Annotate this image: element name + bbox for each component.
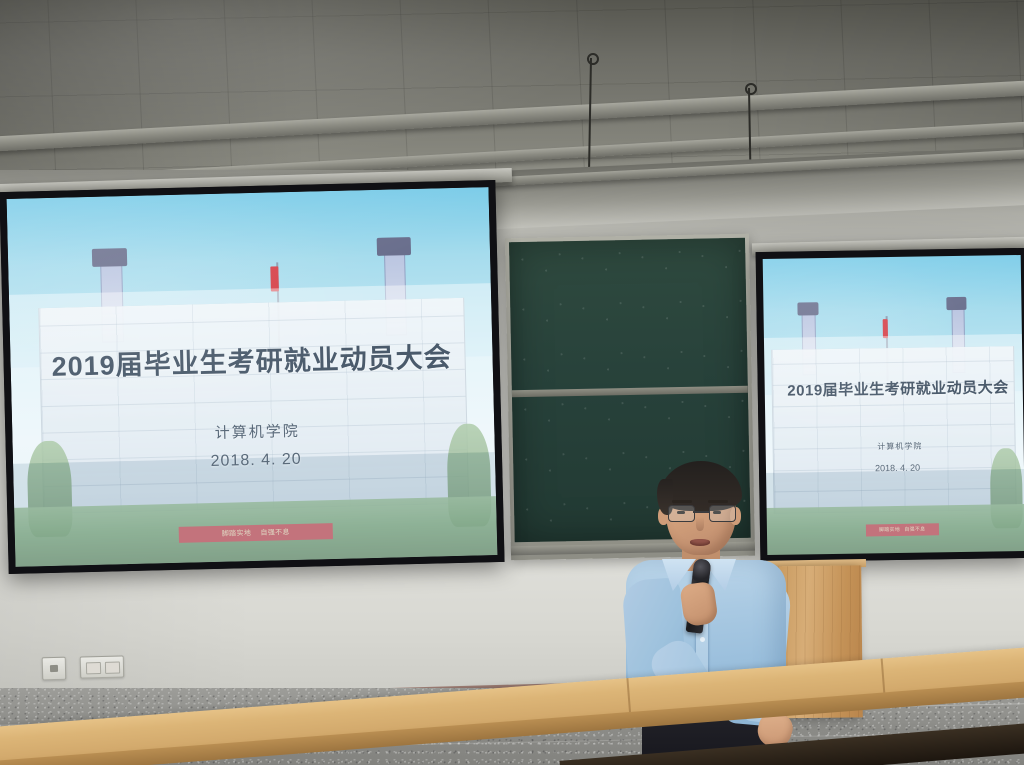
glasses-bridge bbox=[693, 511, 709, 513]
speaker-hair bbox=[660, 461, 742, 511]
wall-switch-plate[interactable] bbox=[80, 655, 125, 678]
speaker-nose bbox=[696, 517, 704, 531]
lecture-hall-scene: 脚踏实地 自强不息 2019届毕业生考研就业动员大会 计算机学院 2018. 4… bbox=[0, 0, 1024, 765]
speaker-eyebrow bbox=[708, 500, 728, 503]
glasses-lens bbox=[668, 505, 695, 522]
main-projection-screen[interactable]: 脚踏实地 自强不息 2019届毕业生考研就业动员大会 计算机学院 2018. 4… bbox=[0, 180, 505, 574]
outlet-socket bbox=[50, 665, 58, 672]
light-switch[interactable] bbox=[86, 662, 101, 674]
speaker-left-hand bbox=[679, 581, 719, 627]
wall-outlet-plate[interactable] bbox=[42, 657, 67, 681]
speaker-eyebrow bbox=[672, 500, 692, 503]
speaker-mouth bbox=[690, 539, 710, 546]
main-screen-bezel bbox=[0, 180, 505, 574]
shirt-button bbox=[700, 637, 705, 642]
microphone-grille bbox=[692, 558, 712, 582]
light-switch[interactable] bbox=[105, 662, 120, 674]
glasses-lens bbox=[709, 505, 736, 522]
